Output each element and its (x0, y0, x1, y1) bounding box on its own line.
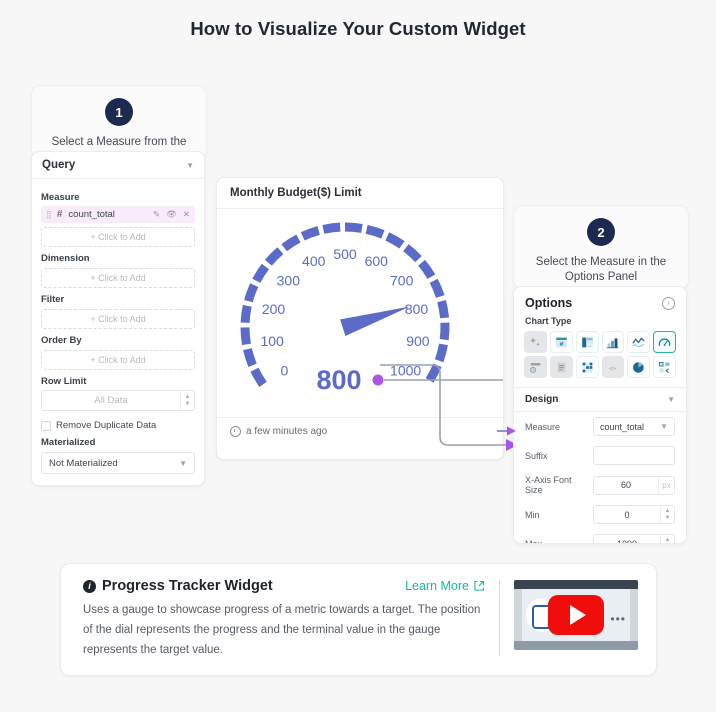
gauge-tick-label: 300 (277, 272, 301, 288)
measure-pointer-arrow-icon (497, 425, 519, 437)
design-measure-select[interactable]: count_total ▼ (593, 417, 675, 436)
filter-add-button[interactable]: + Click to Add (41, 309, 195, 329)
design-field-suffix: Suffix (514, 441, 686, 470)
info-card: i Progress Tracker Widget Learn More Use… (60, 563, 657, 676)
widget-title: Monthly Budget($) Limit (217, 178, 503, 209)
order-by-label: Order By (41, 335, 195, 346)
design-xaxis-font-label: X-Axis Font Size (525, 475, 587, 495)
hash-icon: # (57, 209, 63, 220)
chart-type-html-icon[interactable]: </> (602, 356, 625, 378)
chart-type-widget-settings-icon[interactable] (524, 356, 547, 378)
design-max-label: Max (525, 539, 587, 545)
chevron-down-icon[interactable]: ▼ (186, 161, 194, 170)
measure-chip[interactable]: ⣿ # count_total ✎ 👁 ✕ (41, 206, 195, 223)
widget-footer: a few minutes ago (217, 417, 503, 445)
design-suffix-label: Suffix (525, 451, 587, 461)
gauge-tick-label: 700 (390, 272, 414, 288)
remove-duplicate-checkbox[interactable] (41, 421, 51, 431)
row-limit-label: Row Limit (41, 376, 195, 387)
materialized-label: Materialized (41, 437, 195, 448)
step-badge-1: 1 (105, 98, 133, 126)
youtube-play-icon[interactable] (548, 595, 604, 635)
gauge-tick-label: 500 (333, 246, 357, 262)
query-panel: Query ▼ Measure ⣿ # count_total ✎ 👁 ✕ + … (31, 151, 205, 486)
chart-type-label: Chart Type (514, 316, 686, 326)
step-badge-2: 2 (587, 218, 615, 246)
design-field-x-axis-font-size: X-Axis Font Size 60 px (514, 470, 686, 500)
gauge-widget-card: Monthly Budget($) Limit 0100200300400500… (216, 177, 504, 460)
chart-type-document-icon[interactable] (550, 356, 573, 378)
query-panel-title: Query (42, 159, 75, 171)
design-measure-value: count_total (594, 422, 660, 432)
design-measure-label: Measure (525, 422, 587, 432)
gauge-tick-label: 400 (302, 253, 326, 269)
chart-type-bar-chart-icon[interactable] (602, 331, 625, 353)
thumbnail-top-bar (514, 580, 638, 589)
design-field-min: Min 0 ▲▼ (514, 500, 686, 529)
design-min-value: 0 (594, 510, 660, 520)
chart-type-pie-chart-icon[interactable] (627, 356, 650, 378)
order-by-add-button[interactable]: + Click to Add (41, 350, 195, 370)
callout-step-1: 1 Select a Measure from the Query (31, 85, 207, 159)
remove-duplicate-row[interactable]: Remove Duplicate Data (41, 420, 195, 431)
widget-footer-text: a few minutes ago (246, 426, 327, 437)
row-limit-stepper[interactable]: ▲▼ (180, 391, 194, 410)
callout-step-2: 2 Select the Measure in the Options Pane… (513, 205, 689, 290)
chart-type-heatmap-grid-icon[interactable] (576, 356, 599, 378)
page-title: How to Visualize Your Custom Widget (0, 18, 716, 40)
gauge-svg: 01002003004005006007008009001000800 (217, 209, 503, 417)
thumbnail-dots: ••• (610, 612, 626, 626)
chart-type-gauge-icon[interactable] (653, 331, 676, 353)
callout-step-2-text: Select the Measure in the Options Panel (514, 255, 688, 285)
connector-anchor-dot (373, 375, 384, 386)
design-min-input[interactable]: 0 ▲▼ (593, 505, 675, 524)
materialized-select[interactable]: Not Materialized ▼ (41, 452, 195, 474)
gauge-value-label: 800 (316, 365, 361, 395)
dimension-label: Dimension (41, 253, 195, 264)
gauge-tick-label: 100 (260, 333, 284, 349)
design-min-stepper[interactable]: ▲▼ (660, 506, 674, 523)
divider (499, 580, 500, 656)
chart-type-number-hash-icon[interactable]: # (550, 331, 573, 353)
row-limit-input[interactable]: All Data ▲▼ (41, 390, 195, 411)
design-max-stepper[interactable]: ▲▼ (660, 535, 674, 544)
design-suffix-input[interactable] (593, 446, 675, 465)
video-thumbnail[interactable]: ••• (514, 580, 638, 650)
remove-duplicate-label: Remove Duplicate Data (56, 420, 156, 431)
measure-add-button[interactable]: + Click to Add (41, 227, 195, 247)
chart-type-line-chart-icon[interactable] (627, 331, 650, 353)
gauge-tick-label: 200 (262, 301, 286, 317)
thumbnail-bottom-bar (514, 641, 638, 650)
query-panel-header[interactable]: Query ▼ (32, 152, 204, 179)
design-field-max: Max 1000 ▲▼ (514, 529, 686, 544)
design-max-value: 1000 (594, 539, 660, 545)
dimension-add-button[interactable]: + Click to Add (41, 268, 195, 288)
gauge-tick-label: 1000 (390, 362, 421, 378)
row-limit-value: All Data (42, 395, 180, 406)
close-icon[interactable]: ✕ (183, 209, 190, 220)
measure-label: Measure (41, 192, 195, 203)
clock-icon (230, 426, 241, 437)
measure-chip-name: count_total (68, 209, 147, 220)
pencil-icon[interactable]: ✎ (153, 209, 160, 220)
materialized-value: Not Materialized (49, 458, 118, 469)
info-icon: i (83, 580, 96, 593)
chevron-down-icon: ▼ (179, 459, 187, 468)
chevron-circle-icon[interactable]: › (662, 297, 675, 310)
eye-icon[interactable]: 👁 (166, 209, 177, 220)
design-section-header[interactable]: Design ▼ (514, 387, 686, 412)
chevron-down-icon[interactable]: ▼ (667, 395, 675, 404)
design-max-input[interactable]: 1000 ▲▼ (593, 534, 675, 544)
options-panel-header: Options › (514, 287, 686, 316)
external-link-icon (473, 580, 485, 592)
chart-type-sparkle-auto-icon[interactable] (524, 331, 547, 353)
drag-handle-icon[interactable]: ⣿ (46, 210, 51, 219)
learn-more-label: Learn More (405, 579, 469, 593)
design-field-measure: Measure count_total ▼ (514, 412, 686, 441)
design-section-title: Design (525, 394, 558, 405)
info-card-description: Uses a gauge to showcase progress of a m… (83, 600, 485, 660)
learn-more-link[interactable]: Learn More (405, 579, 485, 593)
gauge-chart: 01002003004005006007008009001000800 (217, 209, 503, 417)
gauge-needle (340, 307, 410, 336)
chart-type-grid: # </> (514, 331, 686, 378)
svg-text:#: # (559, 341, 563, 348)
options-panel: Options › Chart Type # (513, 286, 687, 544)
chart-type-relation-icon[interactable] (653, 356, 676, 378)
design-xaxis-font-value: 60 (594, 480, 658, 490)
design-xaxis-font-input[interactable]: 60 px (593, 476, 675, 495)
design-min-label: Min (525, 510, 587, 520)
gauge-tick-label: 800 (405, 301, 429, 317)
info-card-title: Progress Tracker Widget (102, 578, 273, 594)
options-panel-title: Options (525, 296, 572, 310)
chart-type-table-icon[interactable] (576, 331, 599, 353)
svg-text:</>: </> (609, 365, 616, 371)
gauge-tick-label: 0 (280, 362, 288, 378)
chevron-down-icon: ▼ (660, 422, 674, 431)
gauge-tick-label: 600 (365, 253, 389, 269)
gauge-tick-label: 900 (406, 333, 430, 349)
filter-label: Filter (41, 294, 195, 305)
design-xaxis-font-unit: px (658, 477, 674, 494)
